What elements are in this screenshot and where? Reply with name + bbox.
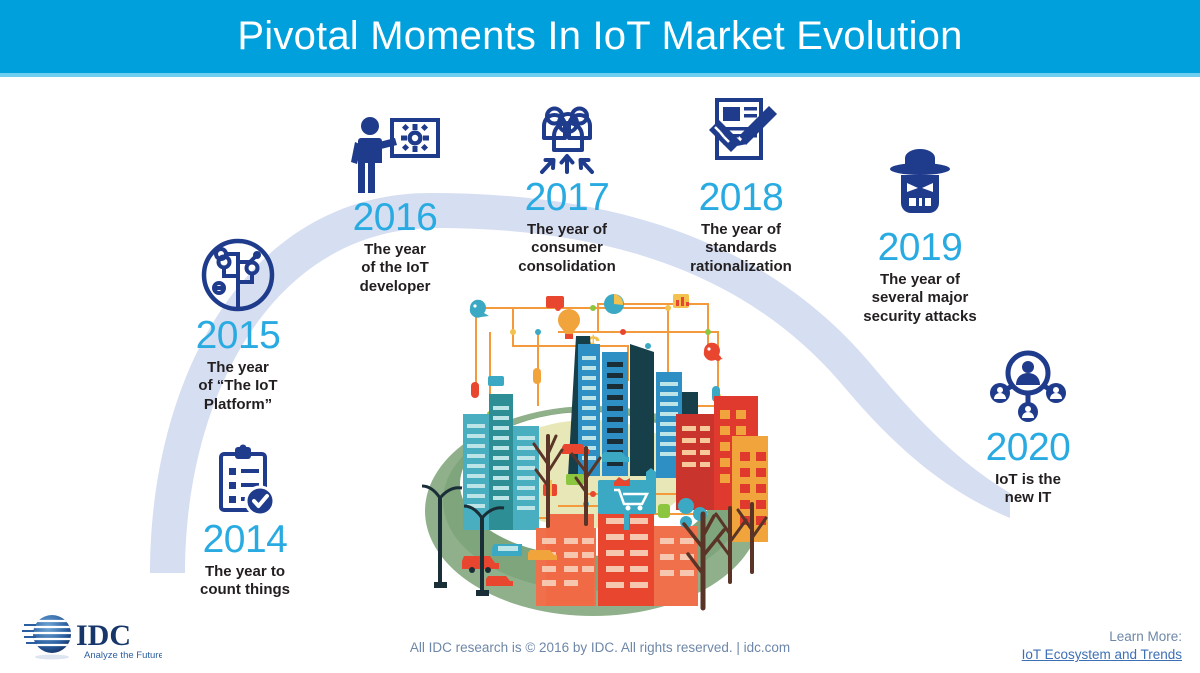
- circuit-chip-circle-icon: [148, 228, 328, 314]
- milestone-2019[interactable]: 2019 The year of several major security …: [820, 140, 1020, 326]
- year-label: 2015: [148, 316, 328, 357]
- milestone-2020[interactable]: 2020 IoT is the new IT: [938, 340, 1118, 508]
- milestone-2015[interactable]: 2015 The year of “The IoT Platform”: [148, 228, 328, 414]
- connected-people-network-icon: [938, 340, 1118, 426]
- year-label: 2019: [820, 228, 1020, 269]
- infographic-page: Pivotal Moments In IoT Market Evolution: [0, 0, 1200, 673]
- milestone-caption: The year of several major security attac…: [820, 271, 1020, 326]
- header-underline: [0, 73, 1200, 77]
- learn-more-label: Learn More:: [1022, 628, 1182, 646]
- idc-logo[interactable]: IDC Analyze the Future: [22, 612, 162, 664]
- clipboard-check-icon: [160, 432, 330, 518]
- copyright-text: All IDC research is © 2016 by IDC. All r…: [0, 640, 1200, 655]
- milestone-2014[interactable]: 2014 The year to count things: [160, 432, 330, 600]
- year-label: 2016: [306, 198, 484, 239]
- year-label: 2020: [938, 428, 1118, 469]
- learn-more-link[interactable]: IoT Ecosystem and Trends: [1022, 646, 1182, 664]
- page-title: Pivotal Moments In IoT Market Evolution: [0, 0, 1200, 73]
- learn-more-block: Learn More: IoT Ecosystem and Trends: [1022, 628, 1182, 664]
- developer-presenting-gear-icon: [306, 110, 484, 196]
- milestone-caption: The year of “The IoT Platform”: [148, 359, 328, 414]
- milestone-2018[interactable]: 2018 The year of standards rationalizati…: [652, 90, 830, 276]
- people-converging-arrows-icon: [478, 90, 656, 176]
- hacker-hat-face-icon: [820, 140, 1020, 226]
- milestone-caption: The year of standards rationalization: [652, 221, 830, 276]
- year-label: 2018: [652, 178, 830, 219]
- document-pencil-ruler-icon: [652, 90, 830, 176]
- year-label: 2014: [160, 520, 330, 561]
- milestone-caption: The year of consumer consolidation: [478, 221, 656, 276]
- milestone-2017[interactable]: 2017 The year of consumer consolidation: [478, 90, 656, 276]
- milestone-caption: IoT is the new IT: [938, 471, 1118, 508]
- smart-city-iot-illustration: $: [418, 286, 768, 622]
- milestone-caption: The year to count things: [160, 563, 330, 600]
- milestone-2016[interactable]: 2016 The year of the IoT developer: [306, 110, 484, 296]
- year-label: 2017: [478, 178, 656, 219]
